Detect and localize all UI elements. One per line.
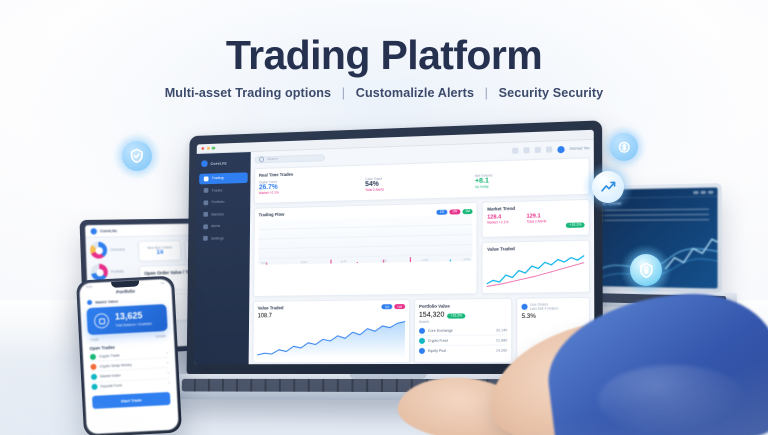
chart-icon <box>204 176 209 181</box>
portfolio-row-0-name: Core Exchange <box>428 328 493 332</box>
sidebar-item-settings[interactable]: Settings <box>198 232 247 244</box>
x-tick-4: 13:00 <box>422 259 428 262</box>
hero-header: Trading Platform Multi-asset Trading opt… <box>0 33 768 100</box>
sidebar-item-label-0: Trading <box>212 176 224 180</box>
portfolio-row-2-name: Equity Pool <box>428 349 493 353</box>
badge-verified-shield <box>122 141 152 171</box>
area-range-a[interactable]: 1D <box>382 304 392 309</box>
portfolio-circle-icon <box>94 313 110 329</box>
search-input[interactable]: Search <box>254 154 324 163</box>
sidebar: CoreLitz Trading Trades Portfolio <box>194 152 251 364</box>
portfolio-row-1-value: 21,880 <box>496 338 507 342</box>
feature-item-1: Customalizle Alerts <box>356 86 474 100</box>
portfolio-row-1-name: Crypto Fund <box>428 338 493 342</box>
phone-trade-list: Crypto Trade › Crypto Swap Money › Marke… <box>83 348 177 393</box>
asset-icon-2 <box>419 348 425 354</box>
overview-panel: Real Time Trades Digital Trend 26.7% Mar… <box>254 157 590 204</box>
alerts-sub: Last Sell 4 Orders <box>530 306 558 310</box>
sidebar-item-portfolio[interactable]: Portfolio <box>199 196 248 208</box>
x-tick-5: 14:00 <box>463 258 470 261</box>
circle-logo-icon <box>90 228 97 234</box>
list-item[interactable]: Core Exchange 32,140 <box>419 325 507 336</box>
chat-icon[interactable] <box>535 147 541 153</box>
area-panel-value: 108.7 <box>258 313 284 319</box>
chart-icon <box>91 374 97 380</box>
list-icon <box>204 188 209 193</box>
dashboard-content: Search Michael Tan Real Time Trades <box>249 140 595 364</box>
stat-card-0: Digital Trend 26.7% Market +2.1% <box>259 177 361 195</box>
phone-section-text: Wallet Value <box>95 298 118 304</box>
candlestick-chart: 09:00 10:00 11:00 12:00 13:00 14:00 <box>258 215 473 265</box>
market-title: Market Trend <box>487 204 584 212</box>
donut-chart-icon <box>90 242 108 259</box>
bell-icon[interactable] <box>523 147 529 153</box>
chevron-right-icon: › <box>167 361 168 365</box>
market-badge: +16.3% <box>566 212 584 231</box>
circle-logo-icon <box>201 160 208 167</box>
sidebar-item-alerts[interactable]: Alerts <box>199 220 248 232</box>
phone-item-1: Crypto Swap Money <box>99 361 164 368</box>
sidebar-item-label-3: Markets <box>211 212 224 216</box>
alerts-value: 5.3% <box>522 313 585 320</box>
candle-x-axis: 09:00 10:00 11:00 12:00 13:00 14:00 <box>261 258 470 265</box>
portfolio-change: +16.3% <box>447 313 465 318</box>
laptop-main-device: CoreLitz Trading Trades Portfolio <box>187 120 603 374</box>
close-icon[interactable] <box>201 147 204 150</box>
laptop-screen: CoreLitz Trading Trades Portfolio <box>194 130 594 365</box>
phone-bezel: 9:41 ▪▪▪ Portfolio Wallet Value 13,625 T… <box>76 276 182 435</box>
trend-chart-icon <box>592 171 624 203</box>
close-icon[interactable] <box>708 190 713 193</box>
list-item[interactable]: Crypto Fund 21,880 <box>419 336 507 347</box>
x-tick-2: 11:00 <box>340 260 346 263</box>
portfolio-sub: Assets <box>419 319 507 324</box>
feature-item-2: Security Security <box>499 86 604 100</box>
phone-tag-left[interactable]: Trade <box>90 338 99 342</box>
live-orders-icon <box>522 304 528 310</box>
badge-lock-shield <box>630 254 662 286</box>
leaf-icon <box>90 353 96 359</box>
trend-line-chart <box>487 253 585 289</box>
candle-title: Trading Flow <box>259 212 285 217</box>
phone-item-3: Deposit Fund <box>100 381 165 388</box>
stat-card-1: Cash Trade 54% Total 2 Alerts <box>365 174 471 192</box>
candlestick-panel: Trading Flow 1D 1W 1M <box>253 202 478 297</box>
bell-icon <box>203 224 208 229</box>
range-1d[interactable]: 1D <box>437 209 447 214</box>
badge-trend-chart <box>592 171 624 203</box>
portfolio-title: Portfolio Value <box>419 303 507 309</box>
separator-0: | <box>342 86 345 100</box>
brand-name: CoreLitz <box>210 161 226 166</box>
page-title: Trading Platform <box>0 33 768 77</box>
x-tick-0: 09:00 <box>261 262 267 265</box>
user-name: Michael Tan <box>570 146 590 151</box>
tablet-kpi-0: New Buy Orders 14 <box>138 240 181 262</box>
phone-item-2: Market Index <box>100 371 165 378</box>
maximize-icon[interactable] <box>701 190 706 193</box>
hero-scene: Trading Platform Multi-asset Trading opt… <box>0 0 768 435</box>
range-1m[interactable]: 1M <box>462 208 473 213</box>
tablet-nav-1[interactable]: Portfolio <box>111 269 124 274</box>
gear-icon <box>203 236 208 241</box>
lock-shield-icon <box>630 254 662 286</box>
portfolio-row-2-value: 14,260 <box>496 349 507 353</box>
sidebar-item-label-5: Settings <box>211 236 224 240</box>
sidebar-item-trading[interactable]: Trading <box>199 172 248 184</box>
sidebar-item-label-4: Alerts <box>211 224 220 228</box>
chevron-right-icon: › <box>168 371 169 375</box>
area-range-b[interactable]: 1W <box>394 304 405 309</box>
area-chart <box>257 318 405 358</box>
start-trade-button[interactable]: Start Trade <box>92 392 171 409</box>
chevron-right-icon: › <box>168 381 169 385</box>
phone-device: 9:41 ▪▪▪ Portfolio Wallet Value 13,625 T… <box>76 276 182 435</box>
x-tick-3: 12:00 <box>381 260 387 263</box>
chevron-right-icon: › <box>167 351 168 355</box>
minimize-icon[interactable] <box>207 147 210 150</box>
candle-series <box>261 219 470 259</box>
phone-tag-right[interactable]: Details <box>156 334 167 339</box>
dashboard-app: CoreLitz Trading Trades Portfolio <box>194 140 594 364</box>
stat-card-2: Net Volume +8.1 Up today <box>475 171 585 189</box>
market-stat-b: 129.1 Total 2 Alerts <box>526 213 562 232</box>
search-icon <box>259 157 264 162</box>
separator-1: | <box>485 86 488 100</box>
tablet-nav-0[interactable]: Overview <box>110 247 125 252</box>
tablet-brand: CoreLitz <box>100 228 117 234</box>
market-stats-panel: Market Trend 128.4 Market +2.1% 129.1 To… <box>482 199 590 238</box>
phone-balance-card[interactable]: 13,625 Total Balance / Available <box>86 304 167 335</box>
sleeve-highlight <box>598 365 748 435</box>
sidebar-item-label-2: Portfolio <box>211 200 224 204</box>
area-panel: Value Traded 108.7 1D 1W <box>252 299 410 363</box>
feature-list: Multi-asset Trading options | Customaliz… <box>0 86 768 100</box>
list-item[interactable]: Equity Pool 14,260 <box>419 346 507 356</box>
asset-icon-0 <box>419 327 425 333</box>
wallet-icon <box>91 384 97 390</box>
globe-icon <box>203 212 208 217</box>
swap-icon <box>90 364 96 370</box>
portfolio-row-0-value: 32,140 <box>496 328 507 332</box>
maximize-icon[interactable] <box>212 147 215 150</box>
market-change-2: Total 2 Alerts <box>526 219 562 224</box>
search-placeholder: Search <box>267 157 278 161</box>
range-1w[interactable]: 1W <box>449 209 460 214</box>
sidebar-item-label-1: Trades <box>212 188 223 192</box>
trend-line-panel: Value Traded <box>482 240 590 294</box>
settings-icon[interactable] <box>546 146 552 152</box>
portfolio-value: 154,320 <box>419 312 444 319</box>
phone-balance-amount: 13,625 <box>115 311 152 322</box>
phone-item-0: Crypto Trade <box>99 351 164 358</box>
shield-check-icon <box>122 141 152 171</box>
tablet-kpi-0-value: 14 <box>143 249 176 256</box>
market-stat-a: 128.4 Market +2.1% <box>487 214 522 233</box>
sidebar-item-markets[interactable]: Markets <box>199 208 248 220</box>
sidebar-item-trades[interactable]: Trades <box>199 184 248 196</box>
area-title: Value Traded <box>487 245 585 252</box>
coin-dollar-icon <box>610 133 638 161</box>
feature-item-0: Multi-asset Trading options <box>165 86 331 100</box>
market-change: Market +2.1% <box>487 220 522 225</box>
grid-icon[interactable] <box>512 148 518 154</box>
wallet-icon <box>87 300 92 305</box>
phone-balance-caption: Total Balance / Available <box>115 322 152 328</box>
x-tick-1: 10:00 <box>300 261 306 264</box>
sidebar-brand: CoreLitz <box>197 156 251 172</box>
avatar[interactable] <box>557 145 564 152</box>
badge-coin <box>610 133 638 161</box>
portfolio-panel: Portfolio Value 154,320 +16.3% Assets Co… <box>414 298 513 363</box>
phone-screen: 9:41 ▪▪▪ Portfolio Wallet Value 13,625 T… <box>79 279 179 435</box>
area-panel-title: Value Traded <box>258 305 284 310</box>
market-pill: +16.3% <box>566 222 584 228</box>
wallet-icon <box>204 200 209 205</box>
asset-icon-1 <box>419 338 425 344</box>
minimize-icon[interactable] <box>693 190 698 193</box>
